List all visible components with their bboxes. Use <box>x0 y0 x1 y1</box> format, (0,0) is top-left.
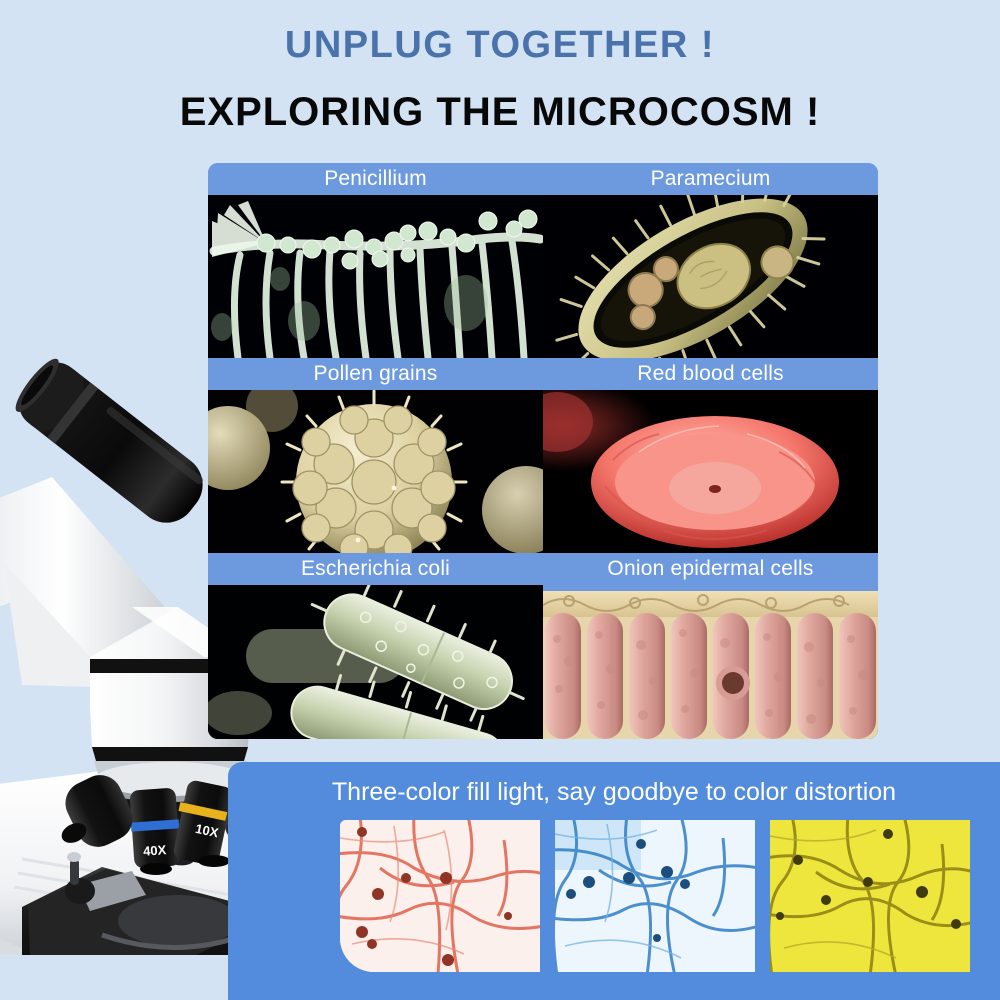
fill-light-sample-blue <box>555 820 755 972</box>
poster-canvas: 40X 10X <box>0 0 1000 1000</box>
specimen-image-red-blood-cells <box>543 390 878 553</box>
fill-light-sample-red <box>340 820 540 972</box>
caption-pollen-grains: Pollen grains <box>208 358 543 390</box>
caption-penicillium: Penicillium <box>208 163 543 195</box>
fill-light-swatch-row <box>340 820 970 972</box>
specimen-image-onion-epidermal-cells <box>543 585 878 739</box>
caption-paramecium: Paramecium <box>543 163 878 195</box>
objective-lens-40x: 40X <box>129 787 180 875</box>
caption-red-blood-cells: Red blood cells <box>543 358 878 390</box>
specimen-image-paramecium <box>543 195 878 358</box>
specimen-grid: Penicillium Paramecium <box>208 163 878 739</box>
poster-title-secondary: EXPLORING THE MICROCOSM ! <box>0 90 1000 135</box>
specimen-image-pollen-grains <box>208 390 543 553</box>
fill-light-banner: Three-color fill light, say goodbye to c… <box>228 762 1000 1000</box>
fill-light-sample-yellow <box>770 820 970 972</box>
svg-text:40X: 40X <box>143 842 167 859</box>
poster-title-primary: UNPLUG TOGETHER ! <box>0 24 1000 67</box>
fill-light-banner-text: Three-color fill light, say goodbye to c… <box>228 778 1000 807</box>
caption-onion-epidermal-cells: Onion epidermal cells <box>543 553 878 585</box>
specimen-image-escherichia-coli <box>208 585 543 739</box>
caption-escherichia-coli: Escherichia coli <box>208 553 543 585</box>
specimen-image-penicillium <box>208 195 543 358</box>
